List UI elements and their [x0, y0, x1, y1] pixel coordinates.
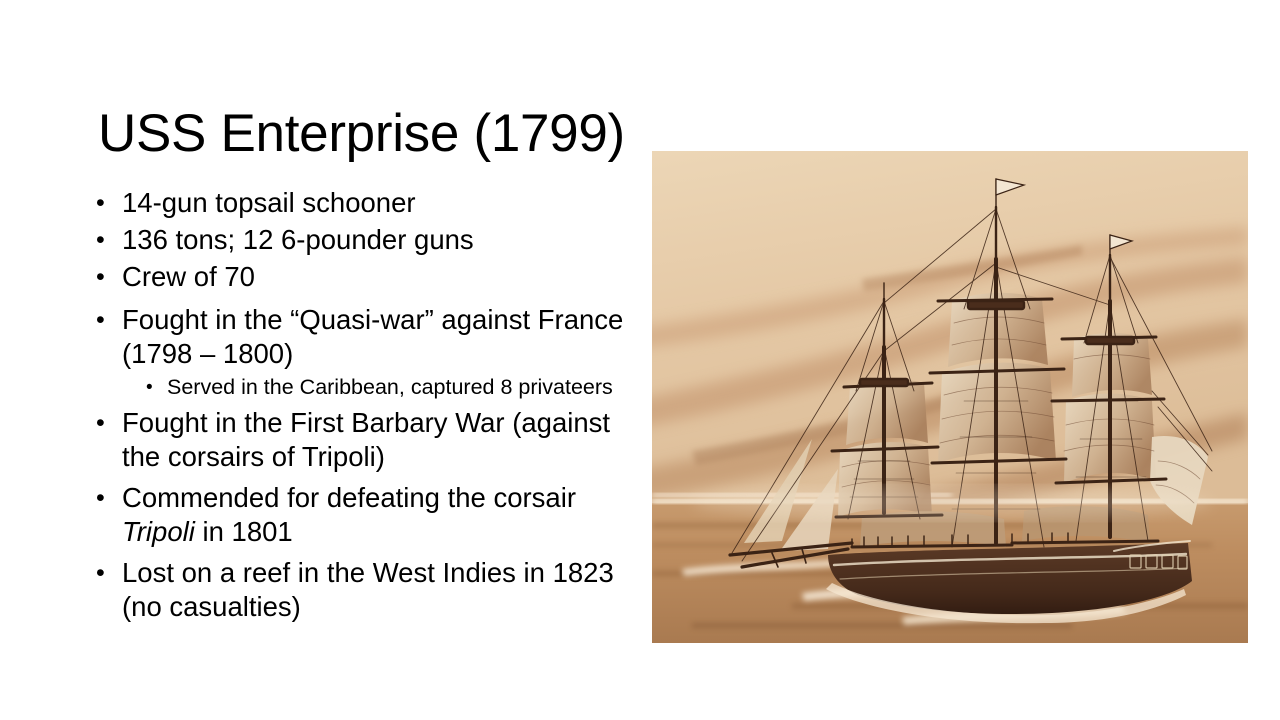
list-item-label: Fought in the “Quasi-war” against France…: [122, 303, 636, 371]
list-item: • Crew of 70: [96, 260, 636, 294]
list-item: • 14-gun topsail schooner: [96, 186, 636, 220]
list-item: • Commended for defeating the corsair Tr…: [96, 481, 636, 549]
bullet-marker-icon: •: [96, 186, 122, 220]
bullet-marker-icon: •: [96, 481, 122, 515]
list-item-label: Fought in the First Barbary War (against…: [122, 406, 636, 474]
list-item-label: Crew of 70: [122, 260, 636, 294]
bullet-marker-icon: •: [96, 556, 122, 590]
list-item: • Fought in the “Quasi-war” against Fran…: [96, 303, 636, 371]
sub-bullet-marker-icon: •: [146, 374, 167, 401]
list-item-text-tail: in 1801: [195, 516, 293, 547]
list-item-label: Lost on a reef in the West Indies in 182…: [122, 556, 636, 624]
slide-canvas: USS Enterprise (1799) • 14-gun topsail s…: [0, 0, 1280, 720]
page-title: USS Enterprise (1799): [98, 104, 658, 164]
sub-list-item: • Served in the Caribbean, captured 8 pr…: [96, 374, 636, 401]
list-item-label: 14-gun topsail schooner: [122, 186, 636, 220]
list-item: • Lost on a reef in the West Indies in 1…: [96, 556, 636, 624]
sub-list-item-label: Served in the Caribbean, captured 8 priv…: [167, 374, 636, 401]
ship-name-emphasis: Tripoli: [122, 516, 195, 547]
list-item: • 136 tons; 12 6-pounder guns: [96, 223, 636, 257]
bullet-marker-icon: •: [96, 303, 122, 337]
list-item: • Fought in the First Barbary War (again…: [96, 406, 636, 474]
list-item-label: Commended for defeating the corsair Trip…: [122, 481, 636, 549]
bullet-marker-icon: •: [96, 406, 122, 440]
list-item-label: 136 tons; 12 6-pounder guns: [122, 223, 636, 257]
ship-illustration: [652, 151, 1248, 643]
bullet-marker-icon: •: [96, 223, 122, 257]
bullet-marker-icon: •: [96, 260, 122, 294]
list-item-text-lead: Commended for defeating the corsair: [122, 482, 576, 513]
bullet-list: • 14-gun topsail schooner • 136 tons; 12…: [96, 186, 636, 627]
